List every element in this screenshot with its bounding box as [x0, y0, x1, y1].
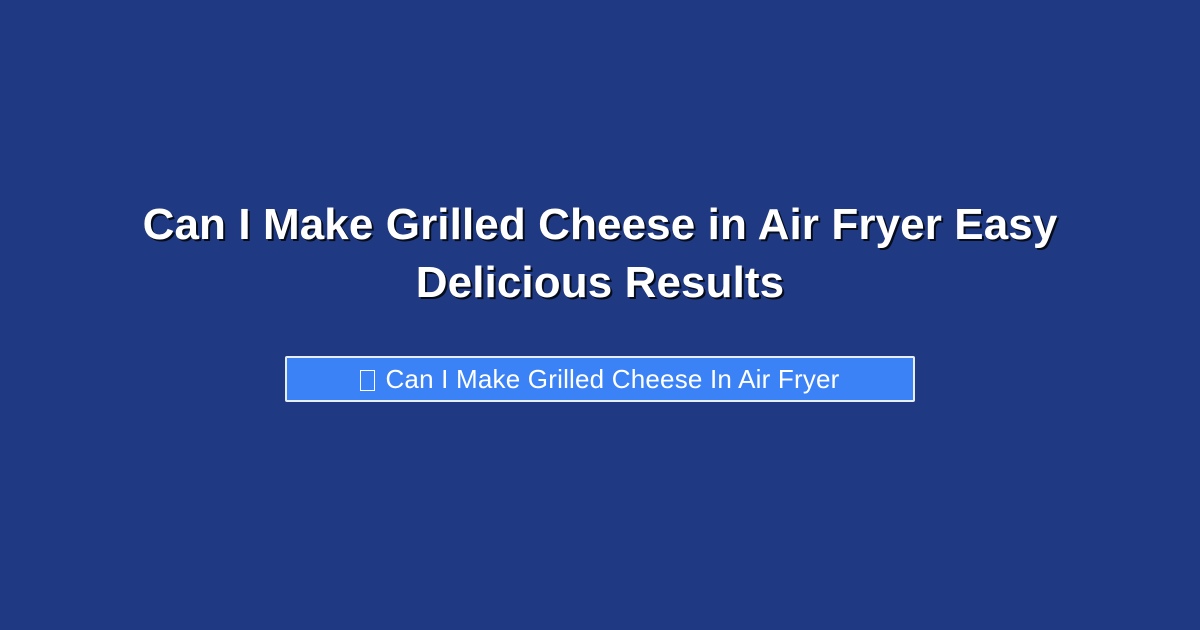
- cta-button-label: Can I Make Grilled Cheese In Air Fryer: [385, 366, 839, 392]
- page-title: Can I Make Grilled Cheese in Air Fryer E…: [60, 196, 1140, 312]
- cta-button[interactable]: Can I Make Grilled Cheese In Air Fryer: [285, 356, 915, 402]
- missing-glyph-tofu-icon: [360, 370, 375, 391]
- og-preview-card: Can I Make Grilled Cheese in Air Fryer E…: [0, 0, 1200, 630]
- cta-container: Can I Make Grilled Cheese In Air Fryer: [0, 356, 1200, 402]
